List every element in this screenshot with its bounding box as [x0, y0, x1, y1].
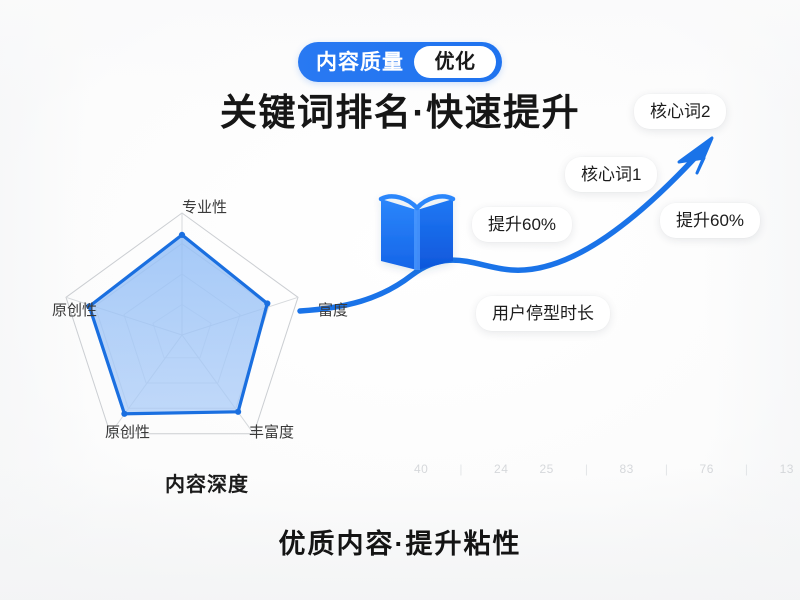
pill-dwell-time[interactable]: 用户停型时长: [476, 296, 610, 331]
book-icon: [0, 0, 800, 600]
footer-slogan: 优质内容·提升粘性: [0, 522, 800, 561]
axis-tick-6: |: [665, 463, 669, 475]
pill-core-keyword-2[interactable]: 核心词2: [634, 94, 726, 129]
axis-tick-3: 25: [539, 463, 553, 475]
axis-tick-4: |: [585, 463, 589, 475]
pill-core-keyword-1[interactable]: 核心词1: [565, 157, 657, 192]
radar-label-right: 富度: [318, 303, 348, 318]
axis-tick-5: 83: [619, 463, 633, 475]
pill-boost-right[interactable]: 提升60%: [660, 203, 760, 238]
axis-tick-9: 13: [780, 463, 794, 475]
badge-main-label: 内容质量: [316, 52, 414, 73]
poster-canvas: 内容质量 优化 关键词排名·快速提升 核心词2 核心词1 提升60% 提升60%…: [0, 0, 800, 600]
axis-tick-1: |: [459, 463, 463, 475]
axis-tick-0: 40: [414, 463, 428, 475]
radar-label-bottom-right: 丰富度: [249, 425, 294, 440]
axis-tick-2: 24: [494, 463, 508, 475]
radar-label-bottom-left: 原创性: [105, 425, 150, 440]
book-page-right: [417, 199, 453, 270]
content-quality-badge[interactable]: 内容质量 优化: [298, 42, 502, 82]
pill-boost-left[interactable]: 提升60%: [472, 207, 572, 242]
radar-label-top: 专业性: [182, 200, 227, 215]
axis-tick-7: 76: [700, 463, 714, 475]
radar-label-left: 原创性: [52, 303, 97, 318]
axis-tick-strip: 40 | 24 25 | 83 | 76 | 13: [414, 463, 794, 475]
book-spine: [414, 209, 420, 270]
axis-tick-8: |: [745, 463, 749, 475]
badge-pill-label: 优化: [414, 46, 496, 78]
radar-caption: 内容深度: [165, 468, 249, 497]
book-page-left: [381, 199, 417, 270]
